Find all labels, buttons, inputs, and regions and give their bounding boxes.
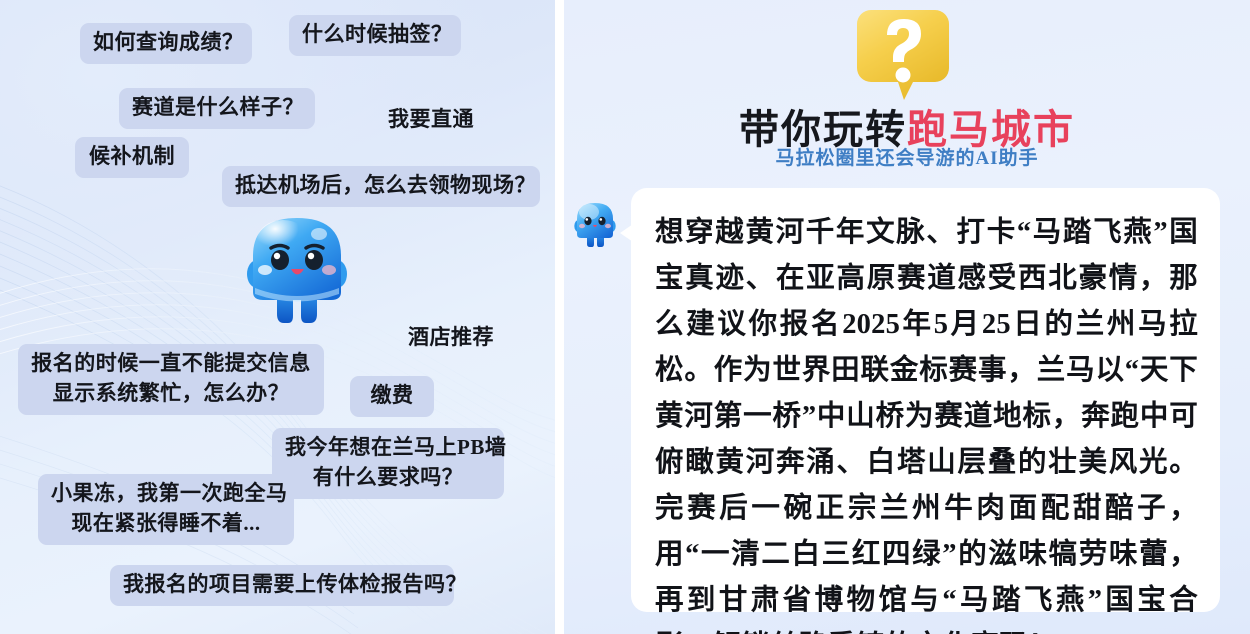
question-bubble-q-lottery[interactable]: 什么时候抽签？ bbox=[289, 15, 461, 56]
question-bubble-q-waitlist[interactable]: 候补机制 bbox=[75, 137, 189, 178]
question-bubble-q-payment[interactable]: 缴费 bbox=[350, 376, 434, 417]
answer-text: 想穿越黄河千年文脉、打卡“马踏飞燕”国宝真迹、在亚高原赛道感受西北豪情，那么建议… bbox=[655, 210, 1198, 634]
question-bubble-q-pbwall[interactable]: 我今年想在兰马上PB墙 有什么要求吗？ bbox=[272, 428, 504, 499]
question-bubble-q-submit[interactable]: 报名的时候一直不能提交信息 显示系统繁忙，怎么办？ bbox=[18, 344, 324, 415]
question-speech-bubble-icon bbox=[855, 4, 951, 102]
question-bubble-q-course[interactable]: 赛道是什么样子？ bbox=[119, 88, 315, 129]
question-bubble-q-score[interactable]: 如何查询成绩？ bbox=[80, 23, 252, 64]
answer-card: 想穿越黄河千年文脉、打卡“马踏飞燕”国宝真迹、在亚高原赛道感受西北豪情，那么建议… bbox=[631, 188, 1220, 612]
page-subtitle: 马拉松圈里还会导游的AI助手 bbox=[564, 143, 1250, 170]
jelly-mascot-small bbox=[573, 199, 617, 251]
left-question-panel: 如何查询成绩？什么时候抽签？赛道是什么样子？我要直通候补机制抵达机场后，怎么去领… bbox=[0, 0, 555, 634]
jelly-mascot-large bbox=[243, 208, 351, 336]
question-bubble-q-medical[interactable]: 我报名的项目需要上传体检报告吗？ bbox=[110, 565, 454, 606]
question-bubble-q-hotel[interactable]: 酒店推荐 bbox=[395, 318, 499, 359]
promo-screenshot: 如何查询成绩？什么时候抽签？赛道是什么样子？我要直通候补机制抵达机场后，怎么去领… bbox=[0, 0, 1250, 634]
question-bubble-q-direct[interactable]: 我要直通 bbox=[375, 100, 479, 141]
question-bubble-q-firstfull[interactable]: 小果冻，我第一次跑全马 现在紧张得睡不着... bbox=[38, 474, 294, 545]
right-answer-panel: 带你玩转跑马城市 马拉松圈里还会导游的AI助手 bbox=[564, 0, 1250, 634]
question-bubble-q-airport[interactable]: 抵达机场后，怎么去领物现场？ bbox=[222, 166, 540, 207]
